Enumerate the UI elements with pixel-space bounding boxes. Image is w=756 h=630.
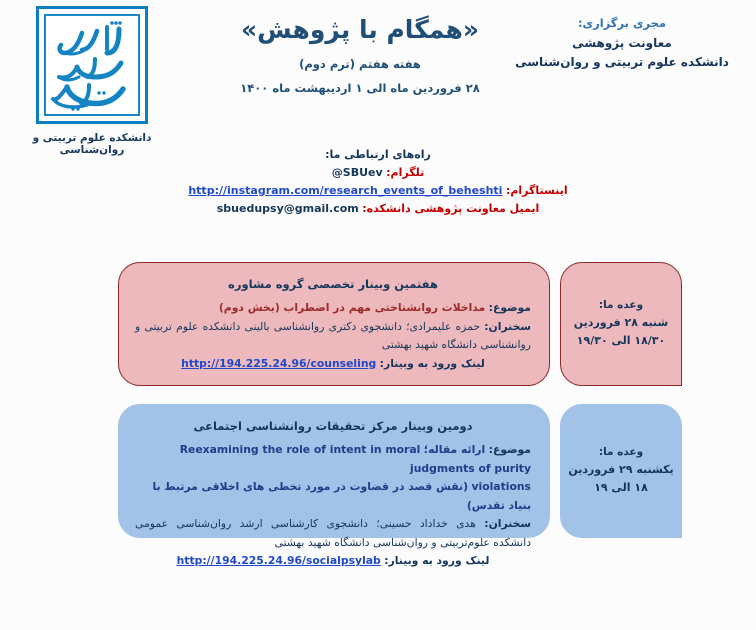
event-link-label: لینک ورود به وبینار: xyxy=(384,554,489,567)
event-topic-continued: violations (نقش قصد در قضاوت در مورد تخط… xyxy=(135,478,531,515)
page-title: «همگام با پژوهش» xyxy=(190,14,530,45)
event-link-label: لینک ورود به وبینار: xyxy=(380,357,485,370)
event-row-social-psychology: دومین وبینار مرکز تحقیقات روانشناسی اجتم… xyxy=(0,400,756,542)
event-card-social-psychology: دومین وبینار مرکز تحقیقات روانشناسی اجتم… xyxy=(118,404,550,538)
schedule-date: شنبه ۲۸ فروردین xyxy=(574,314,668,331)
schedule-time: ۱۸ الی ۱۹ xyxy=(594,479,648,496)
university-logo-icon xyxy=(36,6,148,124)
schedule-label: وعده ما: xyxy=(599,446,643,458)
event-speaker-text: هدی خداداد حسینی؛ دانشجوی کارشناسی ارشد … xyxy=(135,517,531,549)
contact-row-instagram: اینستاگرام: http://instagram.com/researc… xyxy=(0,182,756,200)
telegram-handle: @SBUev xyxy=(332,164,383,182)
event-heading: هفتمین وبینار تخصصی گروه مشاوره xyxy=(135,277,531,291)
organiser-block: مجری برگزاری: معاونت پژوهشی دانشکده علوم… xyxy=(502,16,742,71)
event-speaker: سخنران: حمزه علیمرادی؛ دانشجوی دکتری روا… xyxy=(135,318,531,355)
contact-row-email: ایمیل معاونت پژوهشی دانشکده: sbuedupsy@g… xyxy=(0,200,756,218)
event-speaker: سخنران: هدی خداداد حسینی؛ دانشجوی کارشنا… xyxy=(135,515,531,552)
contact-block: راه‌های ارتباطی ما: تلگرام: @SBUev اینست… xyxy=(0,148,756,218)
event-topic-label: موضوع: xyxy=(489,443,531,456)
logo-calligraphy-art xyxy=(39,9,145,121)
page-date-range: ۲۸ فروردین ماه الی ۱ اردیبهشت ماه ۱۴۰۰ xyxy=(190,81,530,95)
event-link-row: لینک ورود به وبینار: http://194.225.24.9… xyxy=(135,357,531,370)
event-webinar-link[interactable]: http://194.225.24.96/socialpsylab xyxy=(177,554,381,567)
title-block: «همگام با پژوهش» هفته هفتم (ترم دوم) ۲۸ … xyxy=(190,14,530,95)
page-subtitle: هفته هفتم (ترم دوم) xyxy=(190,57,530,71)
schedule-date: یکشنبه ۲۹ فروردین xyxy=(568,461,673,478)
event-webinar-link[interactable]: http://194.225.24.96/counseling xyxy=(181,357,376,370)
event-card-counseling: هفتمین وبینار تخصصی گروه مشاوره موضوع: م… xyxy=(118,262,550,386)
event-topic: موضوع: ارائه مقاله؛ Reexamining the role… xyxy=(135,441,531,478)
schedule-label: وعده ما: xyxy=(599,299,643,311)
organiser-line-1: معاونت پژوهشی xyxy=(502,34,742,53)
email-address[interactable]: sbuedupsy@gmail.com xyxy=(217,200,359,218)
event-row-counseling: هفتمین وبینار تخصصی گروه مشاوره موضوع: م… xyxy=(0,258,756,390)
instagram-label: اینستاگرام: xyxy=(506,184,568,197)
event-topic: موضوع: مداخلات روانشناختی مهم در اضطراب … xyxy=(135,299,531,318)
event-speaker-label: سخنران: xyxy=(484,517,531,530)
contact-title: راه‌های ارتباطی ما: xyxy=(0,148,756,161)
event-topic-latin-2: violations xyxy=(471,480,531,493)
event-schedule-counseling: وعده ما: شنبه ۲۸ فروردین ۱۸/۳۰ الی ۱۹/۳۰ xyxy=(560,262,682,386)
event-topic-text: مداخلات روانشناختی مهم در اضطراب (بخش دو… xyxy=(219,301,485,314)
event-speaker-text: حمزه علیمرادی؛ دانشجوی دکتری روانشناسی ب… xyxy=(135,320,531,352)
email-label: ایمیل معاونت پژوهشی دانشکده: xyxy=(362,202,539,215)
organiser-line-2: دانشکده علوم تربیتی و روان‌شناسی xyxy=(502,53,742,72)
schedule-time: ۱۸/۳۰ الی ۱۹/۳۰ xyxy=(577,332,665,349)
event-heading: دومین وبینار مرکز تحقیقات روانشناسی اجتم… xyxy=(135,419,531,433)
telegram-label: تلگرام: xyxy=(386,166,424,179)
event-schedule-social-psychology: وعده ما: یکشنبه ۲۹ فروردین ۱۸ الی ۱۹ xyxy=(560,404,682,538)
event-topic-label: موضوع: xyxy=(489,301,531,314)
events-area: هفتمین وبینار تخصصی گروه مشاوره موضوع: م… xyxy=(0,258,756,552)
event-speaker-label: سخنران: xyxy=(484,320,531,333)
page-header: دانشکده علوم تربیتی و روان‌شناسی «همگام … xyxy=(0,0,756,160)
event-link-row: لینک ورود به وبینار: http://194.225.24.9… xyxy=(135,554,531,567)
university-logo-block: دانشکده علوم تربیتی و روان‌شناسی xyxy=(12,6,172,156)
contact-row-telegram: تلگرام: @SBUev xyxy=(0,164,756,182)
event-topic-text: ارائه مقاله؛ xyxy=(424,443,485,456)
organiser-label: مجری برگزاری: xyxy=(502,16,742,30)
instagram-link[interactable]: http://instagram.com/research_events_of_… xyxy=(188,182,502,200)
